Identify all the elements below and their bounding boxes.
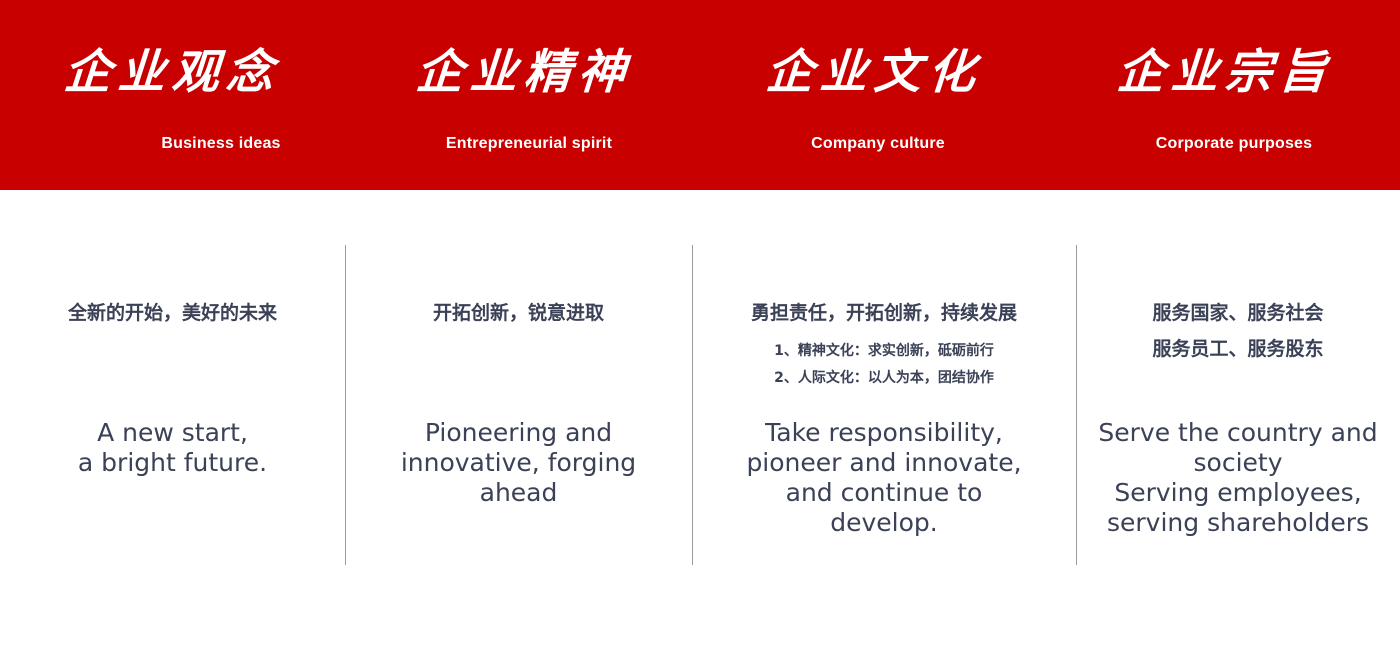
en-body-line: society [1076, 448, 1400, 478]
en-body-line: develop. [692, 508, 1076, 538]
content-en-body-4: Serve the country and society Serving em… [1076, 418, 1400, 538]
content-cn-heading-4: 服务国家、服务社会 服务员工、服务股东 [1076, 295, 1400, 367]
en-body-line: ahead [345, 478, 692, 508]
en-body-line: A new start, [0, 418, 345, 448]
content-en-body-3: Take responsibility, pioneer and innovat… [692, 418, 1076, 538]
header-column-corporate-purposes: 企业宗旨 Corporate purposes [1050, 0, 1400, 190]
cn-heading-line: 开拓创新，锐意进取 [345, 295, 692, 331]
header-column-company-culture: 企业文化 Company culture [700, 0, 1050, 190]
en-body-line: Serving employees, [1076, 478, 1400, 508]
header-en-subtitle-2: Entrepreneurial spirit [354, 134, 704, 154]
en-body-line: Take responsibility, [692, 418, 1076, 448]
content-en-body-1: A new start, a bright future. [0, 418, 345, 478]
en-body-line: and continue to [692, 478, 1076, 508]
content-column-company-culture: 勇担责任，开拓创新，持续发展 1、精神文化：求实创新，砥砺前行 2、人际文化：以… [692, 190, 1076, 662]
content-column-business-ideas: 全新的开始，美好的未来 A new start, a bright future… [0, 190, 345, 662]
cn-heading-line: 勇担责任，开拓创新，持续发展 [692, 295, 1076, 331]
cn-sublist-item: 1、精神文化：求实创新，砥砺前行 [692, 338, 1076, 365]
header-en-subtitle-3: Company culture [703, 134, 1053, 154]
cn-sublist-item: 2、人际文化：以人为本，团结协作 [692, 365, 1076, 392]
content-column-corporate-purposes: 服务国家、服务社会 服务员工、服务股东 Serve the country an… [1076, 190, 1400, 662]
content-column-entrepreneurial-spirit: 开拓创新，锐意进取 Pioneering and innovative, for… [345, 190, 692, 662]
header-cn-title-2: 企业精神 [348, 44, 702, 102]
cn-heading-line: 服务国家、服务社会 [1076, 295, 1400, 331]
en-body-line: a bright future. [0, 448, 345, 478]
content-cn-heading-2: 开拓创新，锐意进取 [345, 295, 692, 331]
content-area: 全新的开始，美好的未来 A new start, a bright future… [0, 190, 1400, 662]
content-cn-heading-3: 勇担责任，开拓创新，持续发展 [692, 295, 1076, 331]
en-body-line: pioneer and innovate, [692, 448, 1076, 478]
content-en-body-2: Pioneering and innovative, forging ahead [345, 418, 692, 508]
content-columns: 全新的开始，美好的未来 A new start, a bright future… [0, 190, 1400, 662]
cn-heading-line: 全新的开始，美好的未来 [0, 295, 345, 331]
en-body-line: serving shareholders [1076, 508, 1400, 538]
en-body-line: Pioneering and [345, 418, 692, 448]
header-en-subtitle-1: Business ideas [46, 134, 396, 154]
header-cn-title-4: 企业宗旨 [1048, 44, 1400, 102]
content-cn-sublist-3: 1、精神文化：求实创新，砥砺前行 2、人际文化：以人为本，团结协作 [692, 338, 1076, 392]
header-cn-title-3: 企业文化 [698, 44, 1052, 102]
header-cn-title-1: 企业观念 [0, 44, 352, 102]
header-column-business-ideas: 企业观念 Business ideas [0, 0, 350, 190]
content-cn-heading-1: 全新的开始，美好的未来 [0, 295, 345, 331]
corporate-values-poster: 企业观念 Business ideas 企业精神 Entrepreneurial… [0, 0, 1400, 662]
header-en-subtitle-4: Corporate purposes [1059, 134, 1400, 154]
header-banner: 企业观念 Business ideas 企业精神 Entrepreneurial… [0, 0, 1400, 190]
en-body-line: Serve the country and [1076, 418, 1400, 448]
header-column-entrepreneurial-spirit: 企业精神 Entrepreneurial spirit [350, 0, 700, 190]
en-body-line: innovative, forging [345, 448, 692, 478]
cn-heading-line: 服务员工、服务股东 [1076, 331, 1400, 367]
